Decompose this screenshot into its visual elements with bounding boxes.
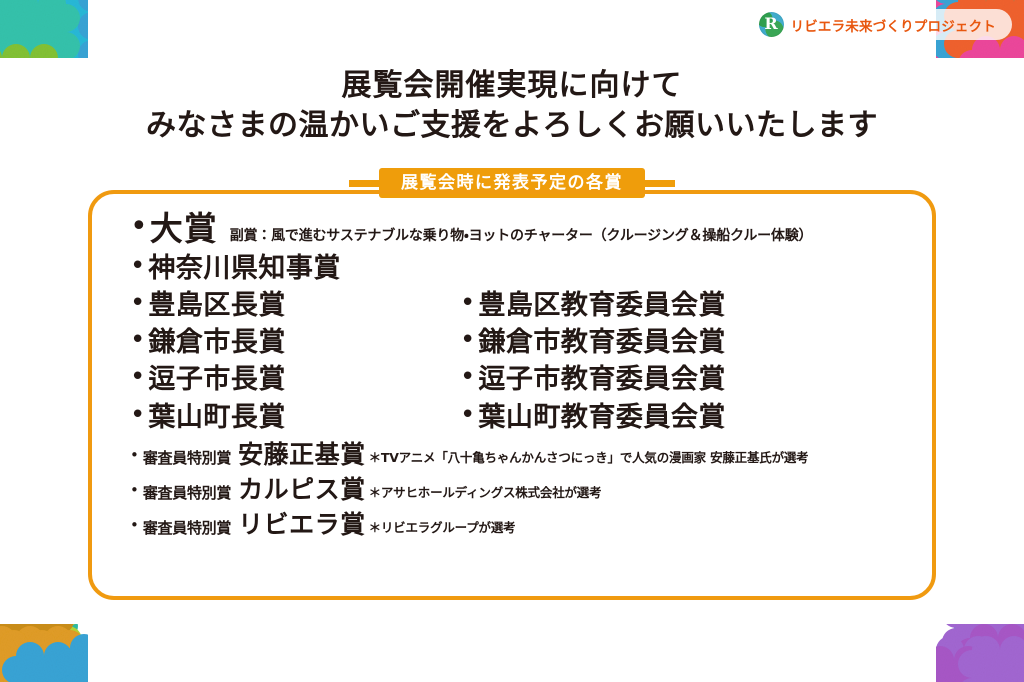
bullet-icon: • bbox=[130, 290, 145, 316]
award-note: ＊アサヒホールディングス株式会社が選考 bbox=[369, 482, 602, 501]
bullet-icon: • bbox=[460, 290, 475, 316]
award-grand-prize: • 大賞 副賞：風で進むサステナブルな乗り物・ヨットのチャーター（クルージング＆… bbox=[130, 212, 910, 247]
award-name: カルピス賞 bbox=[238, 477, 366, 503]
brand-name: リビエラ未来づくりプロジェクト bbox=[791, 15, 997, 35]
award-name: 豊島区長賞 bbox=[148, 291, 286, 321]
award-note: ＊TVアニメ「八十亀ちゃんかんさつにっき」で人気の漫画家 安藤正基氏が選考 bbox=[369, 447, 809, 466]
award-name: 鎌倉市教育委員会賞 bbox=[478, 328, 726, 358]
award-row: • 鎌倉市長賞 • 鎌倉市教育委員会賞 bbox=[130, 328, 910, 358]
award-special-riviera: • 審査員特別賞 リビエラ賞 ＊リビエラグループが選考 bbox=[130, 512, 910, 538]
brand-logo-pill[interactable]: リビエラ未来づくりプロジェクト bbox=[754, 9, 1013, 40]
award-cell-right: • 豊島区教育委員会賞 bbox=[460, 291, 726, 321]
award-special-calpis: • 審査員特別賞 カルピス賞 ＊アサヒホールディングス株式会社が選考 bbox=[130, 477, 910, 503]
award-tag: 審査員特別賞 bbox=[143, 447, 231, 468]
awards-list: • 大賞 副賞：風で進むサステナブルな乗り物・ヨットのチャーター（クルージング＆… bbox=[88, 190, 936, 600]
award-cell-right: • 鎌倉市教育委員会賞 bbox=[460, 328, 726, 358]
award-governor: • 神奈川県知事賞 bbox=[130, 254, 910, 284]
award-cell-left: • 鎌倉市長賞 bbox=[130, 328, 460, 358]
bullet-icon: • bbox=[460, 327, 475, 353]
award-cell-right: • 逗子市教育委員会賞 bbox=[460, 365, 726, 395]
award-special-ando: • 審査員特別賞 安藤正基賞 ＊TVアニメ「八十亀ちゃんかんさつにっき」で人気の… bbox=[130, 442, 910, 468]
headline-line-2: みなさまの温かいご支援をよろしくお願いいたします bbox=[0, 106, 1024, 146]
bullet-icon: • bbox=[130, 364, 145, 390]
award-row: • 葉山町長賞 • 葉山町教育委員会賞 bbox=[130, 403, 910, 433]
award-tag: 審査員特別賞 bbox=[143, 517, 231, 538]
riviera-globe-r-icon bbox=[759, 12, 784, 37]
bullet-icon: • bbox=[130, 253, 145, 279]
award-name: 逗子市教育委員会賞 bbox=[478, 365, 726, 395]
bullet-icon: • bbox=[130, 327, 145, 353]
award-name: 鎌倉市長賞 bbox=[148, 328, 286, 358]
award-cell-right: • 葉山町教育委員会賞 bbox=[460, 403, 726, 433]
award-name: 豊島区教育委員会賞 bbox=[478, 291, 726, 321]
ribbon-label: 展覧会時に発表予定の各賞 bbox=[401, 175, 623, 192]
award-cell-left: • 葉山町長賞 bbox=[130, 403, 460, 433]
award-name: 大賞 bbox=[150, 212, 218, 247]
bullet-icon: • bbox=[130, 483, 139, 498]
award-note: ＊リビエラグループが選考 bbox=[369, 517, 516, 536]
award-cell-left: • 逗子市長賞 bbox=[130, 365, 460, 395]
bullet-icon: • bbox=[130, 212, 148, 242]
headline-line-1: 展覧会開催実現に向けて bbox=[0, 66, 1024, 106]
award-name: 神奈川県知事賞 bbox=[148, 254, 341, 284]
bullet-icon: • bbox=[460, 364, 475, 390]
award-name: 安藤正基賞 bbox=[238, 442, 366, 468]
bullet-icon: • bbox=[130, 402, 145, 428]
award-name: 葉山町教育委員会賞 bbox=[478, 403, 726, 433]
award-row: • 豊島区長賞 • 豊島区教育委員会賞 bbox=[130, 291, 910, 321]
award-tag: 審査員特別賞 bbox=[143, 482, 231, 503]
bullet-icon: • bbox=[130, 518, 139, 533]
award-row: • 逗子市長賞 • 逗子市教育委員会賞 bbox=[130, 365, 910, 395]
bullet-icon: • bbox=[130, 448, 139, 463]
award-name: リビエラ賞 bbox=[238, 512, 366, 538]
award-cell-left: • 豊島区長賞 bbox=[130, 291, 460, 321]
award-name: 葉山町長賞 bbox=[148, 403, 286, 433]
page-title: 展覧会開催実現に向けて みなさまの温かいご支援をよろしくお願いいたします bbox=[0, 66, 1024, 145]
award-subtitle: 副賞：風で進むサステナブルな乗り物・ヨットのチャーター（クルージング＆操船クルー… bbox=[230, 225, 813, 245]
bullet-icon: • bbox=[460, 402, 475, 428]
poster-root: リビエラ未来づくりプロジェクト 展覧会開催実現に向けて みなさまの温かいご支援を… bbox=[0, 0, 1024, 682]
award-name: 逗子市長賞 bbox=[148, 365, 286, 395]
